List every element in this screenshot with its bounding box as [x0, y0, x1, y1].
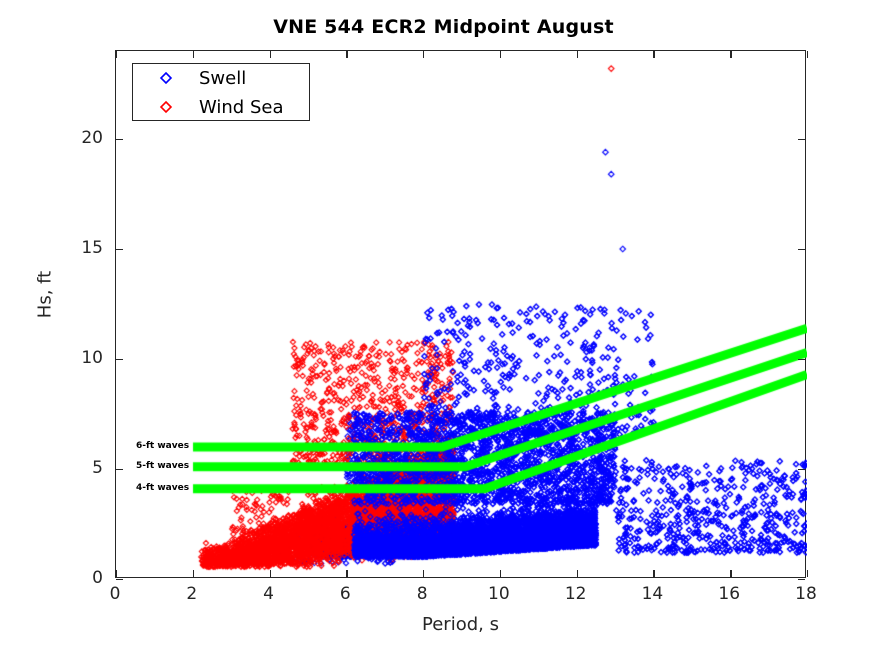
- y-tick-label-20: 20: [0, 128, 103, 148]
- x-tick-4: [270, 51, 271, 58]
- y-tick-0: [116, 579, 123, 580]
- y-tick-20: [798, 139, 805, 140]
- legend-entry-swell: Swell: [133, 64, 309, 93]
- diamond-marker-icon: [159, 71, 173, 85]
- x-tick-label-4: 4: [263, 584, 274, 604]
- legend: Swell Wind Sea: [132, 63, 310, 121]
- x-tick-12: [577, 51, 578, 58]
- legend-label-swell: Swell: [199, 64, 246, 93]
- x-tick-12: [577, 570, 578, 577]
- x-tick-6: [346, 51, 347, 58]
- x-tick-label-10: 10: [488, 584, 510, 604]
- y-tick-15: [798, 249, 805, 250]
- curve-label-6-ft-waves: 6-ft waves: [136, 441, 189, 451]
- y-tick-5: [116, 469, 123, 470]
- y-tick-10: [116, 359, 123, 360]
- x-tick-label-0: 0: [110, 584, 121, 604]
- x-tick-label-12: 12: [565, 584, 587, 604]
- x-tick-10: [500, 51, 501, 58]
- legend-label-wind-sea: Wind Sea: [199, 93, 284, 122]
- y-tick-label-5: 5: [0, 458, 103, 478]
- x-tick-18: [807, 51, 808, 58]
- x-tick-0: [116, 570, 117, 577]
- curve-label-4-ft-waves: 4-ft waves: [136, 483, 189, 493]
- y-axis-title: Hs, ft: [35, 215, 56, 375]
- legend-entry-wind-sea: Wind Sea: [133, 93, 309, 122]
- scatter-canvas: [116, 51, 807, 579]
- x-tick-18: [807, 570, 808, 577]
- x-tick-2: [193, 51, 194, 58]
- x-tick-4: [270, 570, 271, 577]
- x-tick-8: [423, 570, 424, 577]
- x-tick-label-16: 16: [718, 584, 740, 604]
- y-tick-0: [798, 579, 805, 580]
- diamond-marker-icon: [159, 100, 173, 114]
- y-tick-15: [116, 249, 123, 250]
- y-tick-20: [116, 139, 123, 140]
- page-title: VNE 544 ECR2 Midpoint August: [0, 16, 887, 38]
- x-tick-label-14: 14: [642, 584, 664, 604]
- chart-page: VNE 544 ECR2 Midpoint August 02468101214…: [0, 0, 887, 648]
- x-tick-10: [500, 570, 501, 577]
- plot-area: [115, 50, 806, 578]
- x-tick-2: [193, 570, 194, 577]
- curve-label-5-ft-waves: 5-ft waves: [136, 461, 189, 471]
- x-tick-label-2: 2: [186, 584, 197, 604]
- x-tick-6: [346, 570, 347, 577]
- x-axis-title: Period, s: [115, 614, 806, 635]
- x-tick-8: [423, 51, 424, 58]
- x-tick-label-18: 18: [795, 584, 817, 604]
- x-tick-label-8: 8: [417, 584, 428, 604]
- y-tick-5: [798, 469, 805, 470]
- x-tick-16: [730, 51, 731, 58]
- x-tick-14: [653, 51, 654, 58]
- x-tick-0: [116, 51, 117, 58]
- x-tick-16: [730, 570, 731, 577]
- x-tick-14: [653, 570, 654, 577]
- y-tick-10: [798, 359, 805, 360]
- x-tick-label-6: 6: [340, 584, 351, 604]
- y-tick-label-0: 0: [0, 568, 103, 588]
